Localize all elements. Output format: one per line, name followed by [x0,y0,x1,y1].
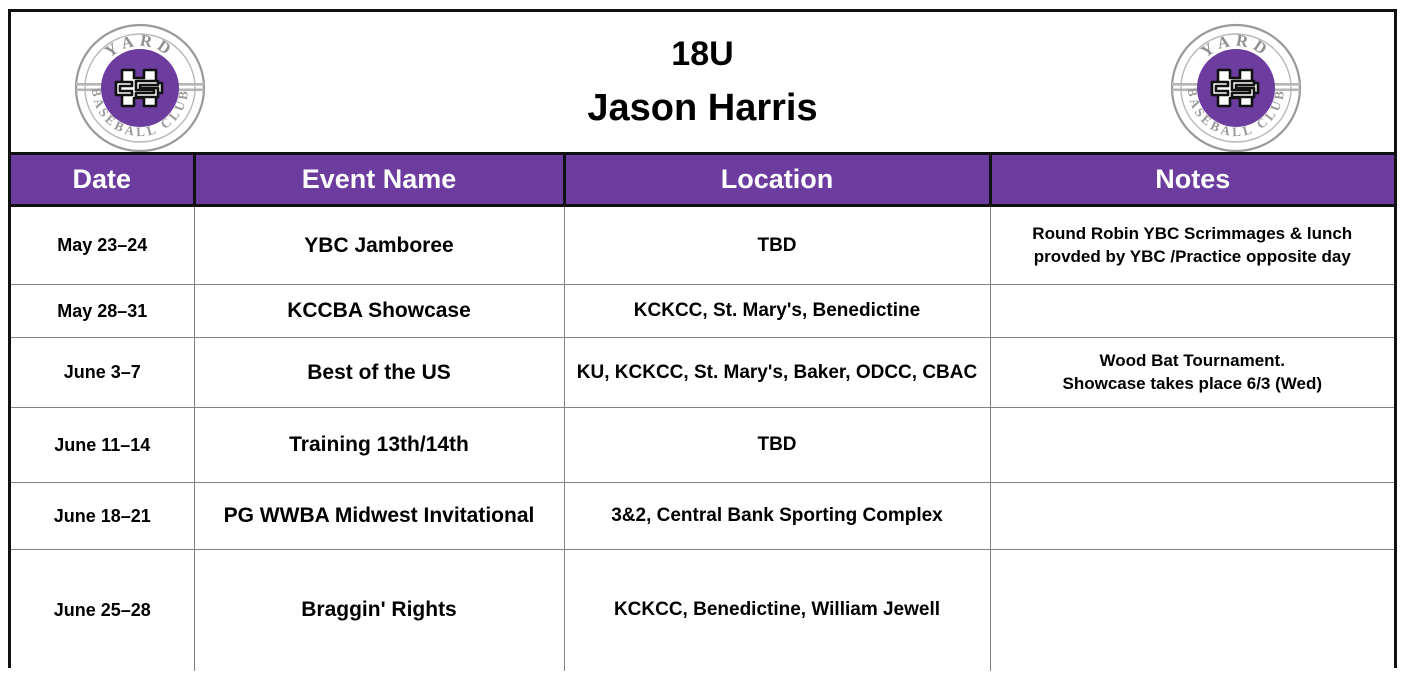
cell-event: PG WWBA Midwest Invitational [194,483,564,550]
cell-notes [990,408,1394,483]
cell-location: TBD [564,408,990,483]
cell-notes: Wood Bat Tournament. Showcase takes plac… [990,338,1394,408]
cell-event: Training 13th/14th [194,408,564,483]
column-header-event-name[interactable]: Event Name [194,154,564,206]
table-body: May 23–24 YBC Jamboree TBD Round Robin Y… [11,206,1394,671]
schedule-table: Date Event Name Location Notes May 23–24… [11,152,1394,671]
schedule-sheet: 18U Jason Harris YARD BASEBALL [8,9,1397,668]
cell-location: KU, KCKCC, St. Mary's, Baker, ODCC, CBAC [564,338,990,408]
notes-line-2: Showcase takes place 6/3 (Wed) [999,373,1387,396]
cell-event: YBC Jamboree [194,206,564,285]
cell-event: Braggin' Rights [194,550,564,671]
age-group-title: 18U [587,37,817,71]
column-header-date[interactable]: Date [11,154,194,206]
table-header: Date Event Name Location Notes [11,154,1394,206]
cell-notes [990,285,1394,338]
table-row: May 23–24 YBC Jamboree TBD Round Robin Y… [11,206,1394,285]
notes-line-2: provded by YBC /Practice opposite day [999,246,1387,269]
cell-location: TBD [564,206,990,285]
table-row: May 28–31 KCCBA Showcase KCKCC, St. Mary… [11,285,1394,338]
cell-date: June 18–21 [11,483,194,550]
header-row: Date Event Name Location Notes [11,154,1394,206]
column-header-notes[interactable]: Notes [990,154,1394,206]
cell-date: June 3–7 [11,338,194,408]
cell-date: May 23–24 [11,206,194,285]
table-row: June 3–7 Best of the US KU, KCKCC, St. M… [11,338,1394,408]
notes-line-1: Round Robin YBC Scrimmages & lunch [999,223,1387,246]
cell-notes [990,550,1394,671]
cell-location: KCKCC, St. Mary's, Benedictine [564,285,990,338]
column-header-location[interactable]: Location [564,154,990,206]
cell-location: KCKCC, Benedictine, William Jewell [564,550,990,671]
yard-baseball-club-logo-left: YARD BASEBALL CLUB [74,22,206,154]
yard-baseball-club-logo-right: YARD BASEBALL CLUB [1170,22,1302,154]
cell-date: May 28–31 [11,285,194,338]
cell-date: June 11–14 [11,408,194,483]
table-row: June 11–14 Training 13th/14th TBD [11,408,1394,483]
notes-line-1: Wood Bat Tournament. [999,350,1387,373]
cell-event: KCCBA Showcase [194,285,564,338]
coach-name-title: Jason Harris [587,89,817,127]
title-stack: 18U Jason Harris [587,37,817,127]
schedule-page: 18U Jason Harris YARD BASEBALL [0,0,1409,681]
cell-location: 3&2, Central Bank Sporting Complex [564,483,990,550]
cell-notes [990,483,1394,550]
table-row: June 25–28 Braggin' Rights KCKCC, Benedi… [11,550,1394,671]
cell-event: Best of the US [194,338,564,408]
table-row: June 18–21 PG WWBA Midwest Invitational … [11,483,1394,550]
cell-notes: Round Robin YBC Scrimmages & lunch provd… [990,206,1394,285]
cell-date: June 25–28 [11,550,194,671]
